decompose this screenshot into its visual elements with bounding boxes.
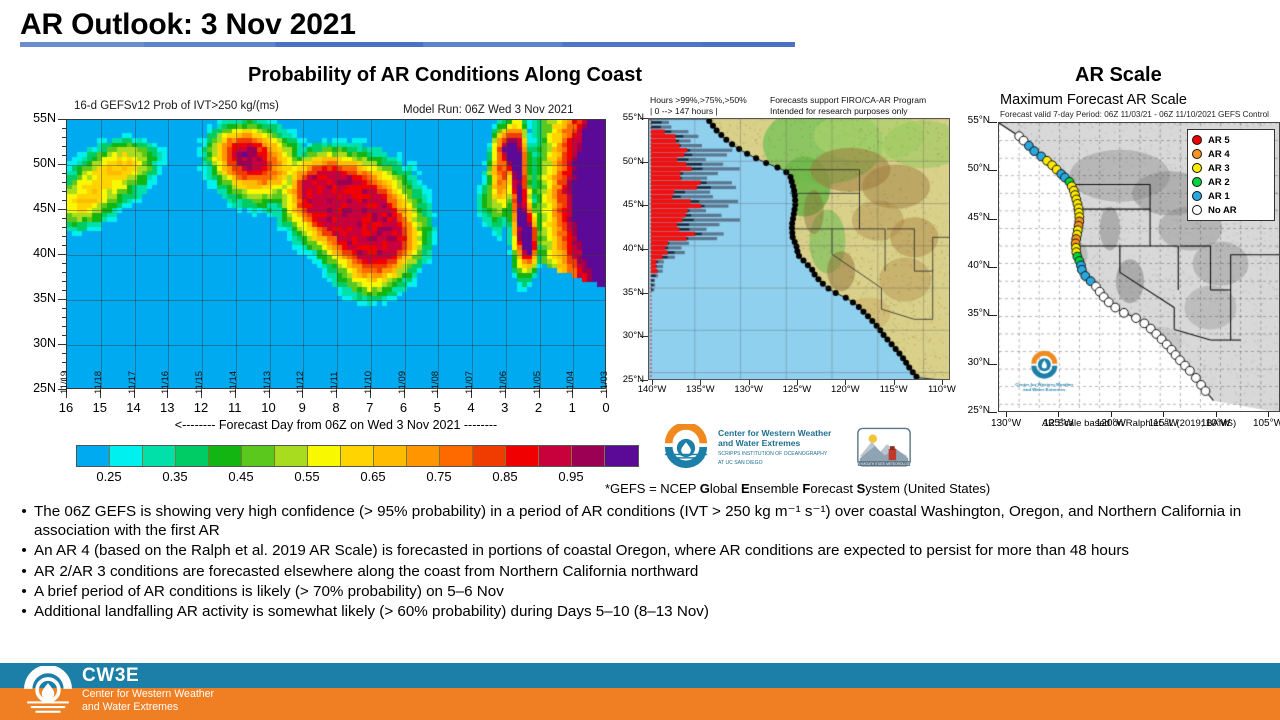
gefs-note-prefix: *GEFS = NCEP bbox=[605, 481, 700, 496]
ar-scale-legend-row: No AR bbox=[1192, 203, 1270, 217]
hovmoller-x-date-label: 11/16 bbox=[160, 371, 171, 394]
bullet-marker: • bbox=[14, 502, 34, 540]
footer-subtitle-line2: and Water Extremes bbox=[82, 701, 214, 713]
hovmoller-y-minor-tick bbox=[62, 200, 67, 201]
ar-scale-y-tick-mark bbox=[988, 364, 997, 365]
partner-logos-row: Center for Western Weather and Water Ext… bbox=[660, 422, 920, 478]
colorbar-swatches bbox=[76, 445, 639, 467]
hovmoller-vertical-gridline bbox=[573, 120, 574, 388]
colorbar-tick-label: 0.45 bbox=[217, 469, 265, 484]
hovmoller-x-date-label: 11/17 bbox=[127, 371, 138, 394]
ar-scale-legend-row: AR 3 bbox=[1192, 161, 1270, 175]
hovmoller-y-minor-tick bbox=[62, 308, 67, 309]
middle-map-y-tick-mark bbox=[640, 118, 648, 119]
hovmoller-y-tick-label: 25N bbox=[10, 381, 56, 395]
colorbar-swatch bbox=[572, 446, 605, 466]
middle-map-y-tick-label: 50°N bbox=[610, 156, 644, 167]
bullet-marker: • bbox=[14, 562, 34, 581]
hovmoller-x-axis-title: <-------- Forecast Day from 06Z on Wed 3… bbox=[66, 418, 606, 432]
hovmoller-horizontal-gridline bbox=[67, 255, 605, 256]
ar-scale-legend-label: AR 5 bbox=[1208, 135, 1230, 146]
bullet-item: •An AR 4 (based on the Ralph et al. 2019… bbox=[14, 541, 1268, 560]
colorbar-tick-label: 0.85 bbox=[481, 469, 529, 484]
hovmoller-y-minor-tick bbox=[62, 335, 67, 336]
ar-scale-legend-dot bbox=[1192, 205, 1202, 215]
gefs-note-g-rest: lobal bbox=[710, 481, 741, 496]
cw3e-text-line2: and Water Extremes bbox=[718, 438, 831, 448]
colorbar-swatch bbox=[539, 446, 572, 466]
colorbar-tick-label: 0.25 bbox=[85, 469, 133, 484]
hovmoller-x-date-label: 11/10 bbox=[363, 371, 374, 394]
middle-map-y-tick-label: 55°N bbox=[610, 112, 644, 123]
hovmoller-y-tick-mark bbox=[58, 299, 67, 300]
bullet-marker: • bbox=[14, 602, 34, 621]
hovmoller-y-minor-tick bbox=[62, 227, 67, 228]
colorbar-swatch bbox=[407, 446, 440, 466]
hovmoller-y-minor-tick bbox=[62, 263, 67, 264]
hovmoller-vertical-gridline bbox=[438, 120, 439, 388]
hovmoller-vertical-gridline bbox=[303, 120, 304, 388]
hovmoller-plot-area bbox=[66, 119, 606, 389]
hovmoller-subtitle-right: Model Run: 06Z Wed 3 Nov 2021 bbox=[403, 104, 573, 116]
gefs-note-e: E bbox=[741, 481, 750, 496]
bullet-text: Additional landfalling AR activity is so… bbox=[34, 602, 1268, 621]
ar-scale-legend-dot bbox=[1192, 135, 1202, 145]
hovmoller-y-minor-tick bbox=[62, 281, 67, 282]
colorbar-swatch bbox=[440, 446, 473, 466]
ar-scale-y-tick-mark bbox=[988, 170, 997, 171]
colorbar-swatch bbox=[341, 446, 374, 466]
ar-scale-y-tick-label: 35°N bbox=[954, 308, 990, 319]
middle-map-y-tick-label: 30°N bbox=[610, 330, 644, 341]
middle-map-x-tick-mark bbox=[845, 380, 846, 385]
ar-scale-legend-title: GEFS Control bbox=[1218, 110, 1269, 119]
hovmoller-y-tick-mark bbox=[58, 254, 67, 255]
hovmoller-y-tick-mark bbox=[58, 119, 67, 120]
hovmoller-subtitle-left: 16-d GEFSv12 Prob of IVT>250 kg/(ms) bbox=[74, 100, 279, 112]
ar-scale-legend-dot bbox=[1192, 177, 1202, 187]
colorbar-swatch bbox=[242, 446, 275, 466]
middle-map-y-tick-mark bbox=[640, 380, 648, 381]
ar-scale-x-tick-mark bbox=[1111, 412, 1112, 417]
middle-map-y-tick-label: 35°N bbox=[610, 287, 644, 298]
hovmoller-y-minor-tick bbox=[62, 137, 67, 138]
middle-map-x-tick-label: 130°W bbox=[727, 384, 771, 395]
middle-map-x-tick-label: 110°W bbox=[920, 384, 964, 395]
bullet-item: •AR 2/AR 3 conditions are forecasted els… bbox=[14, 562, 1268, 581]
middle-map-y-tick-mark bbox=[640, 205, 648, 206]
ar-scale-legend-row: AR 4 bbox=[1192, 147, 1270, 161]
ar-scale-y-tick-label: 25°N bbox=[954, 405, 990, 416]
middle-map-x-tick-mark bbox=[652, 380, 653, 385]
cw3e-text-line4: AT UC SAN DIEGO bbox=[718, 460, 831, 467]
middle-map-canvas bbox=[649, 119, 950, 380]
colorbar-swatch bbox=[506, 446, 539, 466]
hovmoller-vertical-gridline bbox=[270, 120, 271, 388]
ar-scale-legend-row: AR 1 bbox=[1192, 189, 1270, 203]
hovmoller-y-minor-tick bbox=[62, 245, 67, 246]
middle-map-x-tick-label: 115°W bbox=[872, 384, 916, 395]
hovmoller-vertical-gridline bbox=[371, 120, 372, 388]
gefs-note-e-rest: nsemble bbox=[750, 481, 803, 496]
title-underline-rule bbox=[20, 42, 795, 47]
middle-map-y-tick-label: 45°N bbox=[610, 199, 644, 210]
bullet-text: A brief period of AR conditions is likel… bbox=[34, 582, 1268, 601]
footer-bar: CW3E Center for Western Weather and Wate… bbox=[0, 663, 1280, 720]
ar-scale-map-panel: Maximum Forecast AR Scale Forecast valid… bbox=[960, 92, 1280, 467]
ar-scale-x-tick-mark bbox=[1058, 412, 1059, 417]
colorbar-swatch bbox=[374, 446, 407, 466]
probability-panel-heading: Probability of AR Conditions Along Coast bbox=[248, 64, 642, 87]
cw3e-logo-text: Center for Western Weather and Water Ext… bbox=[718, 428, 831, 466]
bullet-text: The 06Z GEFS is showing very high confid… bbox=[34, 502, 1268, 540]
middle-map-x-tick-label: 140°W bbox=[630, 384, 674, 395]
ar-scale-map-title: Maximum Forecast AR Scale bbox=[1000, 92, 1187, 108]
page-title: AR Outlook: 3 Nov 2021 bbox=[20, 8, 356, 42]
gefs-footnote: *GEFS = NCEP Global Ensemble Forecast Sy… bbox=[605, 481, 990, 496]
bullet-item: •The 06Z GEFS is showing very high confi… bbox=[14, 502, 1268, 540]
hovmoller-y-minor-tick bbox=[62, 326, 67, 327]
program-note-line2: Intended for research purposes only bbox=[770, 106, 908, 116]
hovmoller-x-date-label: 11/09 bbox=[397, 371, 408, 394]
middle-map-x-tick-label: 120°W bbox=[823, 384, 867, 395]
program-note-line1: Forecasts support FIRO/CA-AR Program bbox=[770, 95, 926, 105]
hovmoller-y-minor-tick bbox=[62, 218, 67, 219]
colorbar-swatch bbox=[143, 446, 176, 466]
hovmoller-y-minor-tick bbox=[62, 353, 67, 354]
hovmoller-y-minor-tick bbox=[62, 191, 67, 192]
hovmoller-y-tick-label: 30N bbox=[10, 336, 56, 350]
ar-scale-x-tick-mark bbox=[1006, 412, 1007, 417]
ar-scale-y-tick-mark bbox=[988, 122, 997, 123]
hovmoller-y-tick-label: 45N bbox=[10, 201, 56, 215]
middle-map-y-tick-mark bbox=[640, 249, 648, 250]
bullet-marker: • bbox=[14, 582, 34, 601]
middle-map-x-tick-mark bbox=[797, 380, 798, 385]
psu-logo-caption: PLYMOUTH STATE METEOROLOGY bbox=[856, 462, 912, 466]
hours-note-line1: Hours >99%,>75%,>50% bbox=[650, 95, 747, 105]
colorbar-tick-label: 0.35 bbox=[151, 469, 199, 484]
hovmoller-y-minor-tick bbox=[62, 236, 67, 237]
hovmoller-vertical-gridline bbox=[472, 120, 473, 388]
ar-scale-legend-dot bbox=[1192, 149, 1202, 159]
ar-scale-y-tick-label: 55°N bbox=[954, 115, 990, 126]
colorbar-swatch bbox=[176, 446, 209, 466]
middle-map-x-tick-label: 135°W bbox=[678, 384, 722, 395]
ar-scale-legend-label: AR 4 bbox=[1208, 149, 1230, 160]
ar-scale-x-tick-mark bbox=[1268, 412, 1269, 417]
hovmoller-vertical-gridline bbox=[135, 120, 136, 388]
hovmoller-y-minor-tick bbox=[62, 362, 67, 363]
ar-scale-legend-label: AR 1 bbox=[1208, 191, 1230, 202]
hovmoller-y-tick-mark bbox=[58, 209, 67, 210]
colorbar-tick-label: 0.75 bbox=[415, 469, 463, 484]
hovmoller-horizontal-gridline bbox=[67, 210, 605, 211]
cw3e-footer-logo-icon bbox=[22, 666, 74, 718]
hovmoller-x-day-number: 0 bbox=[586, 400, 626, 415]
gefs-note-g: G bbox=[700, 481, 710, 496]
ar-scale-y-tick-mark bbox=[988, 267, 997, 268]
hovmoller-y-minor-tick bbox=[62, 317, 67, 318]
ar-scale-legend-row: AR 2 bbox=[1192, 175, 1270, 189]
hovmoller-vertical-gridline bbox=[236, 120, 237, 388]
colorbar-tick-label: 0.55 bbox=[283, 469, 331, 484]
ar-scale-terrain-map: AR 5AR 4AR 3AR 2AR 1No AR bbox=[998, 122, 1280, 412]
colorbar-swatch bbox=[110, 446, 143, 466]
gefs-note-s-rest: ystem (United States) bbox=[865, 481, 990, 496]
colorbar-swatch bbox=[77, 446, 110, 466]
hovmoller-y-tick-label: 40N bbox=[10, 246, 56, 260]
hovmoller-x-date-label: 11/15 bbox=[194, 371, 205, 394]
hovmoller-x-date-label: 11/06 bbox=[498, 371, 509, 394]
hovmoller-x-date-label: 11/08 bbox=[430, 371, 441, 394]
hovmoller-vertical-gridline bbox=[168, 120, 169, 388]
middle-map-x-tick-mark bbox=[894, 380, 895, 385]
ar-scale-y-tick-mark bbox=[988, 219, 997, 220]
hovmoller-y-tick-mark bbox=[58, 344, 67, 345]
hovmoller-x-date-label: 11/14 bbox=[228, 371, 239, 394]
hovmoller-vertical-gridline bbox=[202, 120, 203, 388]
ar-scale-legend-dot bbox=[1192, 191, 1202, 201]
bullet-item: •A brief period of AR conditions is like… bbox=[14, 582, 1268, 601]
hours-threshold-map-panel: Hours >99%,>75%,>50% | 0 --> 147 hours |… bbox=[630, 92, 970, 402]
ar-scale-x-tick-mark bbox=[1163, 412, 1164, 417]
hovmoller-y-tick-label: 50N bbox=[10, 156, 56, 170]
ar-scale-panel-heading: AR Scale bbox=[1075, 64, 1162, 87]
hovmoller-x-date-label: 11/05 bbox=[532, 371, 543, 394]
footer-brand: CW3E bbox=[82, 665, 214, 687]
colorbar-tick-label: 0.95 bbox=[547, 469, 595, 484]
hovmoller-x-date-label: 11/03 bbox=[599, 371, 610, 394]
hovmoller-vertical-gridline bbox=[506, 120, 507, 388]
ar-scale-legend-box: AR 5AR 4AR 3AR 2AR 1No AR bbox=[1187, 129, 1275, 221]
hovmoller-y-tick-label: 55N bbox=[10, 111, 56, 125]
middle-map-y-tick-mark bbox=[640, 336, 648, 337]
ar-scale-footnote: AR Scale based on Ralph et al. (2019; BA… bbox=[998, 418, 1280, 429]
hovmoller-y-minor-tick bbox=[62, 128, 67, 129]
hovmoller-x-date-label: 11/12 bbox=[295, 371, 306, 394]
middle-map-x-tick-mark bbox=[749, 380, 750, 385]
ar-scale-map-subtitle: Forecast valid 7-day Period: 06Z 11/03/2… bbox=[1000, 110, 1216, 119]
probability-hovmoller-panel: 16-d GEFSv12 Prob of IVT>250 kg/(ms) Mod… bbox=[0, 92, 640, 447]
hovmoller-vertical-gridline bbox=[101, 120, 102, 388]
plymouth-state-meteorology-logo-icon: PLYMOUTH STATE METEOROLOGY bbox=[856, 425, 912, 473]
middle-map-y-tick-mark bbox=[640, 162, 648, 163]
cw3e-text-line1: Center for Western Weather bbox=[718, 428, 831, 438]
ar-scale-legend-label: AR 3 bbox=[1208, 163, 1230, 174]
hovmoller-x-date-label: 11/07 bbox=[464, 371, 475, 394]
hovmoller-y-minor-tick bbox=[62, 290, 67, 291]
hours-note-line2: | 0 --> 147 hours | bbox=[650, 106, 718, 116]
ar-scale-legend-dot bbox=[1192, 163, 1202, 173]
hovmoller-y-minor-tick bbox=[62, 182, 67, 183]
hovmoller-x-date-label: 11/04 bbox=[565, 371, 576, 394]
hovmoller-horizontal-gridline bbox=[67, 165, 605, 166]
hovmoller-horizontal-gridline bbox=[67, 345, 605, 346]
ar-scale-y-tick-label: 30°N bbox=[954, 357, 990, 368]
ar-scale-legend-row: AR 5 bbox=[1192, 133, 1270, 147]
ar-scale-legend-label: No AR bbox=[1208, 205, 1237, 216]
bullet-text: AR 2/AR 3 conditions are forecasted else… bbox=[34, 562, 1268, 581]
bullet-item: •Additional landfalling AR activity is s… bbox=[14, 602, 1268, 621]
ar-scale-legend-label: AR 2 bbox=[1208, 177, 1230, 188]
hovmoller-x-date-label: 11/19 bbox=[59, 371, 70, 394]
middle-map-x-tick-label: 125°W bbox=[775, 384, 819, 395]
bullet-marker: • bbox=[14, 541, 34, 560]
middle-map-y-tick-mark bbox=[640, 293, 648, 294]
ar-scale-y-tick-mark bbox=[988, 412, 997, 413]
hovmoller-y-tick-mark bbox=[58, 164, 67, 165]
hovmoller-x-date-label: 11/18 bbox=[93, 371, 104, 394]
middle-map-x-tick-mark bbox=[942, 380, 943, 385]
hovmoller-x-date-label: 11/13 bbox=[262, 371, 273, 394]
ar-scale-y-tick-label: 45°N bbox=[954, 212, 990, 223]
cw3e-text-line3: SCRIPPS INSTITUTION OF OCEANOGRAPHY bbox=[718, 451, 831, 458]
bullet-text: An AR 4 (based on the Ralph et al. 2019 … bbox=[34, 541, 1268, 560]
summary-bullet-list: •The 06Z GEFS is showing very high confi… bbox=[14, 502, 1268, 622]
hovmoller-vertical-gridline bbox=[337, 120, 338, 388]
gefs-note-s: S bbox=[857, 481, 866, 496]
colorbar-tick-label: 0.65 bbox=[349, 469, 397, 484]
hovmoller-horizontal-gridline bbox=[67, 300, 605, 301]
hovmoller-y-minor-tick bbox=[62, 146, 67, 147]
colorbar-swatch bbox=[308, 446, 341, 466]
cw3e-logo-icon bbox=[660, 424, 712, 472]
colorbar-swatch bbox=[209, 446, 242, 466]
ar-scale-y-tick-label: 50°N bbox=[954, 163, 990, 174]
ar-scale-x-tick-mark bbox=[1216, 412, 1217, 417]
hovmoller-y-minor-tick bbox=[62, 173, 67, 174]
hovmoller-vertical-gridline bbox=[540, 120, 541, 388]
hovmoller-y-minor-tick bbox=[62, 155, 67, 156]
footer-text-block: CW3E Center for Western Weather and Wate… bbox=[82, 665, 214, 714]
footer-subtitle-line1: Center for Western Weather bbox=[82, 688, 214, 700]
ar-scale-y-tick-mark bbox=[988, 315, 997, 316]
gefs-note-f-rest: orecast bbox=[810, 481, 856, 496]
hovmoller-x-date-label: 11/11 bbox=[329, 372, 340, 394]
ar-scale-y-tick-label: 40°N bbox=[954, 260, 990, 271]
middle-map-x-tick-mark bbox=[700, 380, 701, 385]
colorbar-swatch bbox=[605, 446, 638, 466]
middle-terrain-map bbox=[648, 118, 950, 380]
probability-colorbar: 0.250.350.450.550.650.750.850.95 bbox=[0, 445, 640, 495]
hovmoller-vertical-gridline bbox=[405, 120, 406, 388]
hovmoller-y-minor-tick bbox=[62, 272, 67, 273]
colorbar-swatch bbox=[275, 446, 308, 466]
colorbar-swatch bbox=[473, 446, 506, 466]
middle-map-y-tick-label: 40°N bbox=[610, 243, 644, 254]
hovmoller-y-tick-label: 35N bbox=[10, 291, 56, 305]
